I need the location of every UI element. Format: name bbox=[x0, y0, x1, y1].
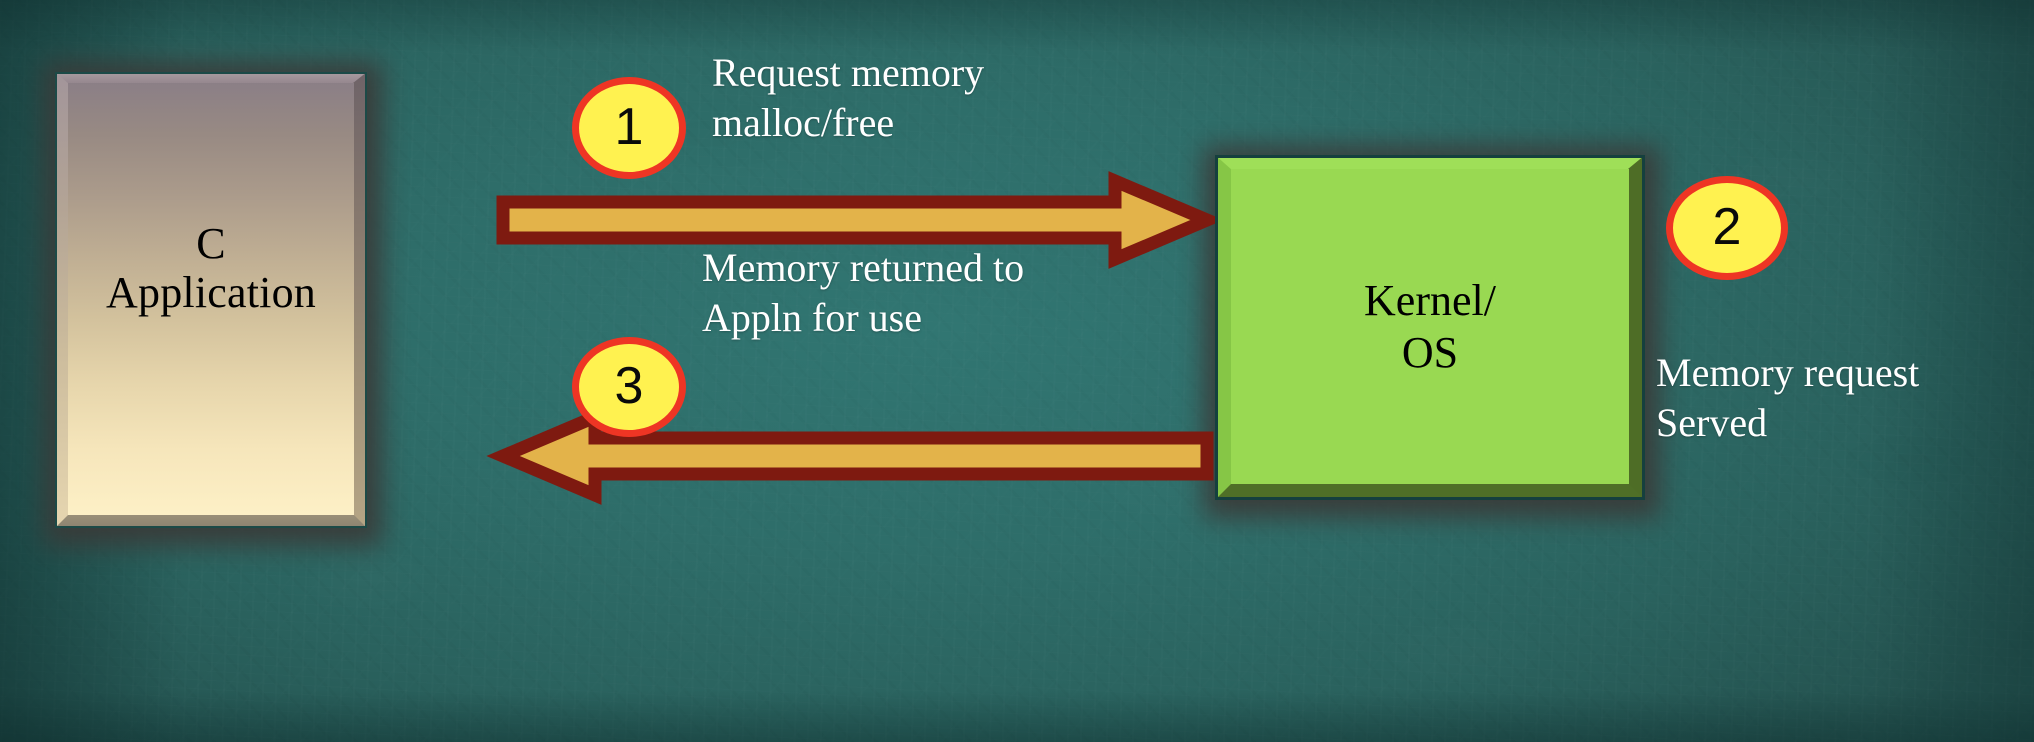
c-application-bevel-right bbox=[353, 72, 367, 528]
kernel-os-label-line1: Kernel/ bbox=[1364, 276, 1496, 325]
kernel-os-box[interactable]: Kernel/OS bbox=[1215, 155, 1645, 500]
step-3-caption: Memory returned toAppln for use bbox=[702, 243, 1202, 343]
kernel-os-bevel-left bbox=[1215, 155, 1232, 500]
step-3-caption-line2: Appln for use bbox=[702, 295, 922, 340]
step-2-caption: Memory requestServed bbox=[1656, 232, 2034, 448]
c-application-bevel-bottom bbox=[55, 514, 367, 528]
step-1-caption-line1: Request memory bbox=[712, 50, 984, 95]
c-application-bevel-left bbox=[55, 72, 69, 528]
kernel-os-bevel-bottom bbox=[1215, 483, 1645, 500]
c-application-label-line2: Application bbox=[106, 268, 316, 317]
step-1-caption-line2: malloc/free bbox=[712, 100, 894, 145]
step-1-badge[interactable]: 1 bbox=[572, 77, 686, 179]
kernel-os-bevel-right bbox=[1628, 155, 1645, 500]
step-2-caption-line2: Served bbox=[1656, 400, 1767, 445]
step-3-badge[interactable]: 3 bbox=[572, 337, 686, 437]
c-application-label: CApplication bbox=[106, 219, 316, 318]
step-1-badge-number: 1 bbox=[615, 101, 644, 153]
kernel-os-bevel-top bbox=[1215, 155, 1645, 170]
c-application-label-line1: C bbox=[196, 219, 226, 268]
c-application-box[interactable]: CApplication bbox=[55, 72, 367, 528]
step-3-caption-line1: Memory returned to bbox=[702, 245, 1024, 290]
c-application-face: CApplication bbox=[68, 83, 354, 515]
step-2-caption-line1: Memory request bbox=[1656, 350, 1919, 395]
kernel-os-face: Kernel/OS bbox=[1231, 169, 1629, 484]
step-3-badge-number: 3 bbox=[615, 360, 644, 412]
kernel-os-label-line2: OS bbox=[1402, 328, 1458, 377]
step-1-caption: Request memorymalloc/free bbox=[712, 48, 1142, 148]
diagram-canvas: CApplication Kernel/OS 1 Request memorym… bbox=[0, 0, 2034, 742]
kernel-os-label: Kernel/OS bbox=[1364, 275, 1496, 379]
